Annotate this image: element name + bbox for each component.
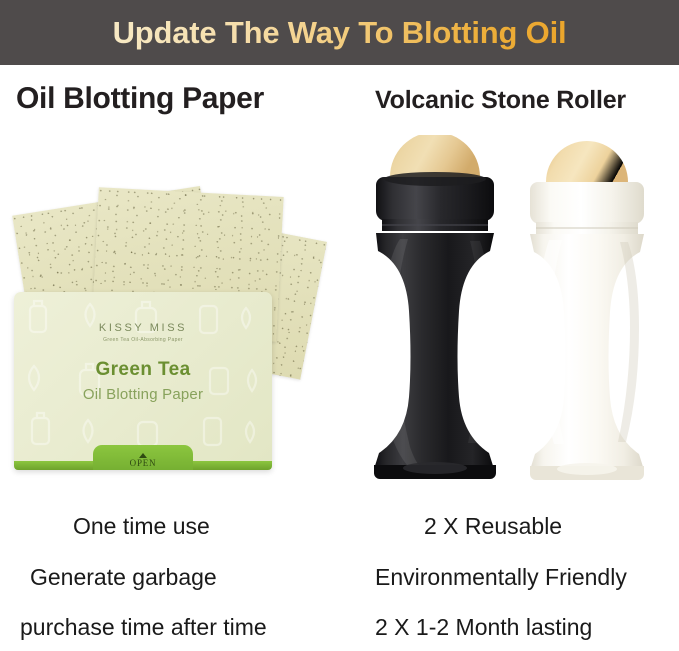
volcanic-stone-dome — [546, 141, 628, 185]
white-volcanic-stone-roller — [512, 138, 662, 488]
black-volcanic-stone-roller — [360, 135, 510, 485]
product-comparison-infographic: Update The Way To Blotting Oil Oil Blott… — [0, 0, 679, 651]
package-brand: KISSY MISS — [14, 322, 272, 334]
right-feature-1: 2 X Reusable — [424, 513, 562, 540]
package-open-tab: OPEN — [93, 445, 193, 470]
page-title: Update The Way To Blotting Oil — [113, 15, 567, 51]
package-open-label: OPEN — [130, 459, 157, 468]
left-feature-2: Generate garbage — [30, 564, 217, 591]
right-feature-2: Environmentally Friendly — [375, 564, 627, 591]
package-brand-subtitle: Green Tea Oil-Absorbing Paper — [14, 337, 272, 343]
blotting-paper-package: KISSY MISS Green Tea Oil-Absorbing Paper… — [14, 292, 272, 470]
right-column-heading: Volcanic Stone Roller — [375, 86, 626, 115]
left-feature-3: purchase time after time — [20, 614, 267, 641]
header-banner: Update The Way To Blotting Oil — [0, 0, 679, 65]
package-text-block: KISSY MISS Green Tea Oil-Absorbing Paper… — [14, 322, 272, 403]
right-feature-3: 2 X 1-2 Month lasting — [375, 614, 592, 641]
roller-cap — [530, 182, 644, 224]
package-product-subtitle: Oil Blotting Paper — [14, 386, 272, 403]
left-feature-1: One time use — [73, 513, 210, 540]
package-product-name: Green Tea — [14, 359, 272, 381]
left-column-heading: Oil Blotting Paper — [16, 82, 264, 116]
